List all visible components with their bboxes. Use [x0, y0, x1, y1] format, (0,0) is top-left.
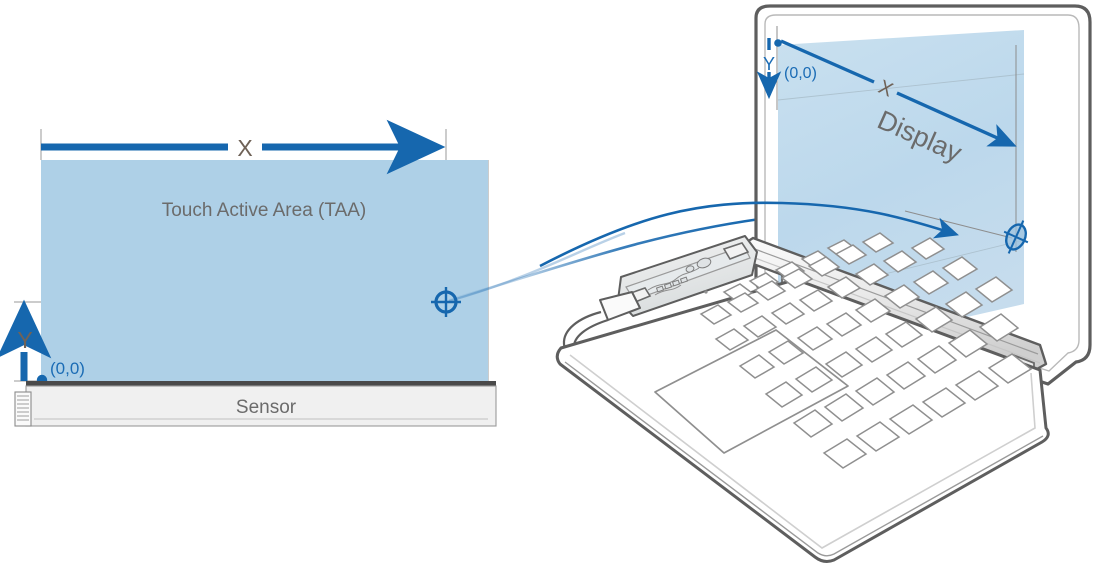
- laptop-illustration: X Y (0,0) Display: [449, 6, 1090, 561]
- x-axis-label: X: [237, 135, 252, 161]
- touch-active-area-panel: Touch Active Area (TAA) X Y (0,0): [14, 129, 496, 426]
- display-origin-dot: [774, 39, 782, 47]
- sensor-connector: [15, 392, 31, 426]
- display-origin-label: (0,0): [784, 65, 817, 82]
- touch-active-area-rect: [41, 160, 488, 381]
- origin-label: (0,0): [50, 359, 85, 378]
- y-axis-label: Y: [17, 327, 32, 353]
- diagram-canvas: Touch Active Area (TAA) X Y (0,0): [0, 0, 1094, 574]
- technical-diagram: Touch Active Area (TAA) X Y (0,0): [0, 0, 1094, 574]
- sensor-label: Sensor: [236, 397, 297, 418]
- display-y-axis-label: Y: [763, 54, 775, 74]
- taa-label: Touch Active Area (TAA): [162, 200, 367, 221]
- sensor-bar: Sensor: [15, 381, 496, 426]
- power-indicator-dot: [704, 290, 707, 293]
